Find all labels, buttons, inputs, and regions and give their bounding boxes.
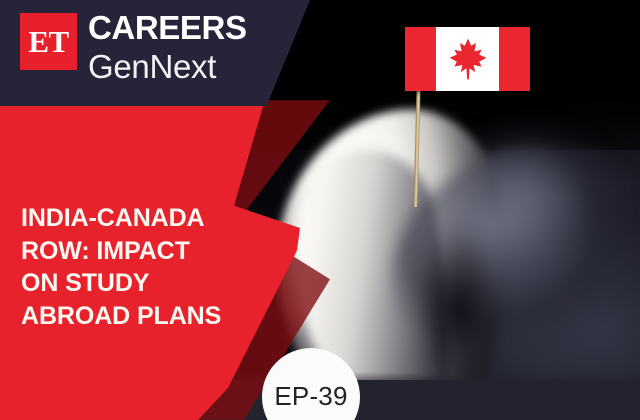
canada-flag-group	[405, 27, 530, 91]
et-logo-box: ET	[20, 13, 77, 70]
episode-label: EP-39	[274, 381, 347, 412]
flag-left-band	[405, 27, 436, 91]
headline: INDIA-CANADA ROW: IMPACT ON STUDY ABROAD…	[21, 202, 271, 332]
canada-flag-icon	[405, 27, 530, 91]
headline-line-1: INDIA-CANADA	[21, 202, 271, 235]
headline-line-4: ABROAD PLANS	[21, 300, 271, 333]
headline-line-3: ON STUDY	[21, 267, 271, 300]
brand-line-careers: CAREERS	[88, 10, 247, 47]
headline-line-2: ROW: IMPACT	[21, 235, 271, 268]
flag-right-band	[499, 27, 530, 91]
thumbnail-canvas: ET CAREERS GenNext INDIA-CANADA ROW: IMP…	[0, 0, 640, 420]
et-logo-text: ET	[28, 26, 68, 57]
brand-wordmark: CAREERS GenNext	[88, 8, 247, 87]
brand-line-gennext: GenNext	[88, 48, 247, 87]
brand-lockup: ET CAREERS GenNext	[0, 0, 310, 106]
maple-leaf-icon	[448, 37, 488, 81]
